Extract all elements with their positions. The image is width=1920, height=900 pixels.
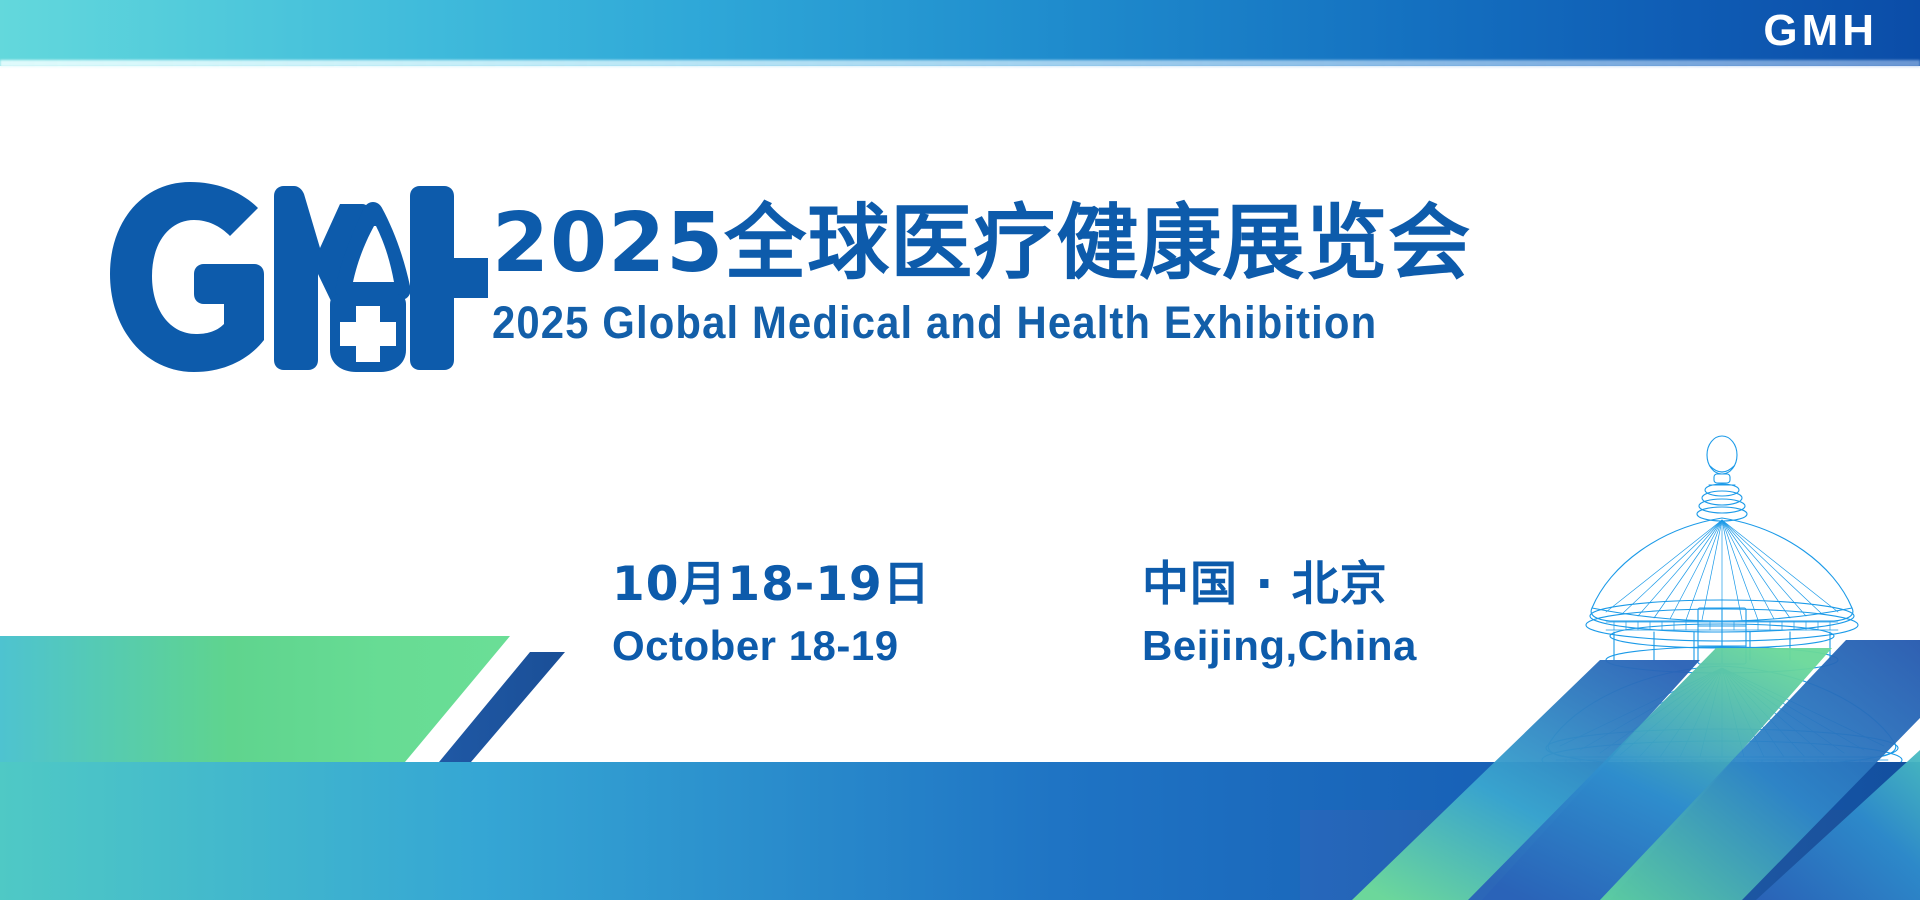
temple-of-heaven-illustration <box>1510 430 1920 900</box>
event-date-chinese: 10月18-19日 <box>612 545 1142 614</box>
decor-ribbon-4 <box>1756 750 1920 900</box>
decor-bottom-bar <box>0 762 1920 900</box>
event-place-english: Beijing,China <box>1142 622 1417 670</box>
event-date-english: October 18-19 <box>612 622 1142 670</box>
title-english: 2025 Global Medical and Health Exhibitio… <box>492 296 1422 350</box>
gmh-logo-mark <box>108 182 488 372</box>
event-banner: GMH <box>0 0 1920 900</box>
logo-letter-g <box>110 182 264 372</box>
title-chinese: 2025全球医疗健康展览会 <box>492 196 1492 292</box>
event-info: 10月18-19日 中国 · 北京 October 18-19 Beijing,… <box>612 536 1417 670</box>
decor-ribbon-1 <box>1352 660 1700 900</box>
logo-letter-h <box>410 186 488 370</box>
top-bar-sheen <box>0 60 1920 67</box>
top-bar: GMH <box>0 0 1920 66</box>
decor-bottom-bar-right <box>1300 810 1920 900</box>
decor-ribbon-3 <box>1600 640 1920 900</box>
top-bar-brand: GMH <box>1763 0 1878 66</box>
decor-green-slab <box>0 636 510 762</box>
title-block: 2025全球医疗健康展览会 2025 Global Medical and He… <box>492 196 1492 350</box>
decor-ribbon-2 <box>1468 648 1832 900</box>
decor-dark-stripe <box>240 652 565 810</box>
event-place-chinese: 中国 · 北京 <box>1142 545 1417 614</box>
